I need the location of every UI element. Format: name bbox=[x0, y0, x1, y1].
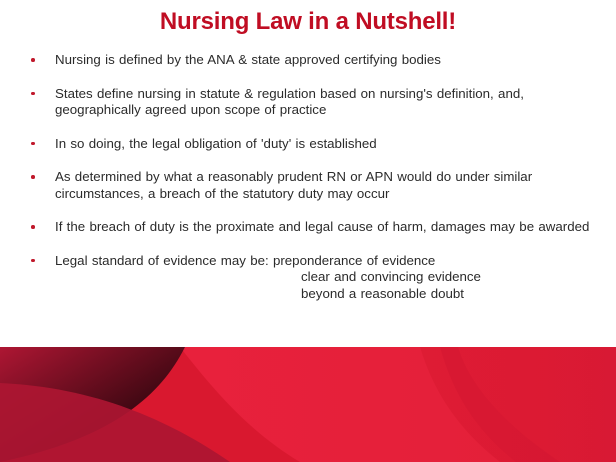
list-item-evidence-standards: Legal standard of evidence may be: prepo… bbox=[0, 253, 616, 303]
presentation-slide: Nursing Law in a Nutshell! Nursing is de… bbox=[0, 0, 616, 462]
bullet-text: In so doing, the legal obligation of 'du… bbox=[55, 136, 594, 153]
list-item: In so doing, the legal obligation of 'du… bbox=[0, 136, 616, 153]
bullet-text: If the breach of duty is the proximate a… bbox=[55, 219, 594, 236]
bullet-dot-icon bbox=[31, 225, 35, 229]
bullet-text: Nursing is defined by the ANA & state ap… bbox=[55, 52, 594, 69]
bullet-dot-icon bbox=[31, 259, 35, 263]
sub-list-item: clear and convincing evidence bbox=[301, 269, 594, 286]
evidence-standards-sublist: clear and convincing evidence beyond a r… bbox=[301, 269, 594, 302]
bullet-text: States define nursing in statute & regul… bbox=[55, 86, 594, 119]
list-item: States define nursing in statute & regul… bbox=[0, 86, 616, 119]
bullet-dot-icon bbox=[31, 92, 35, 96]
list-item: As determined by what a reasonably prude… bbox=[0, 169, 616, 202]
bullet-text: Legal standard of evidence may be: prepo… bbox=[55, 253, 594, 270]
bullet-dot-icon bbox=[31, 58, 35, 62]
bullet-dot-icon bbox=[31, 142, 35, 146]
bullet-list: Nursing is defined by the ANA & state ap… bbox=[0, 52, 616, 319]
list-item: If the breach of duty is the proximate a… bbox=[0, 219, 616, 236]
slide-title: Nursing Law in a Nutshell! bbox=[0, 8, 616, 36]
bullet-dot-icon bbox=[31, 175, 35, 179]
decorative-footer-band bbox=[0, 347, 616, 462]
sub-list-item: beyond a reasonable doubt bbox=[301, 286, 594, 303]
footer-band-shapes bbox=[0, 347, 616, 462]
bullet-text: As determined by what a reasonably prude… bbox=[55, 169, 594, 202]
list-item: Nursing is defined by the ANA & state ap… bbox=[0, 52, 616, 69]
